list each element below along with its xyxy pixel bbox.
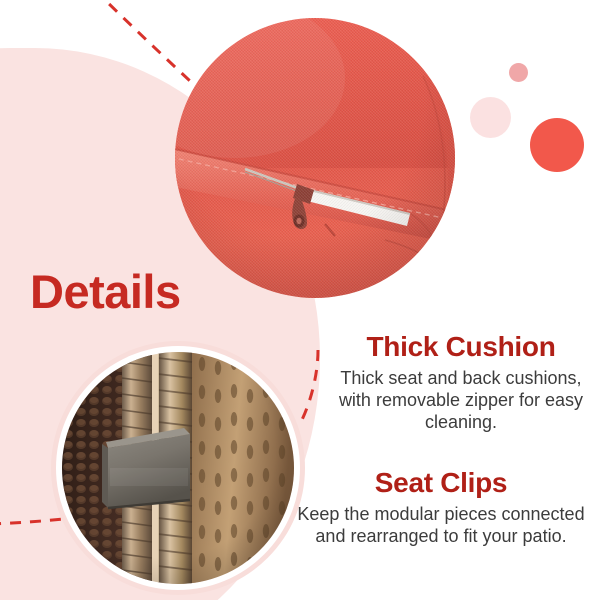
feature-seat-clips-title: Seat Clips — [282, 468, 600, 499]
product-details-poster: Details Thick Cushion Thick seat and bac… — [0, 0, 600, 600]
feature-thick-cushion-body: Thick seat and back cushions, with remov… — [330, 368, 592, 434]
feature-seat-clips-body: Keep the modular pieces connected and re… — [282, 504, 600, 548]
small-pink-dot — [509, 63, 528, 82]
page-title: Details — [30, 268, 181, 315]
cushion-illustration — [175, 18, 455, 298]
seat-clip-photo — [62, 352, 294, 584]
pale-pink-dot — [470, 97, 511, 138]
cushion-zipper-photo — [175, 18, 455, 298]
coral-dot — [530, 118, 584, 172]
seat-clip-illustration — [62, 352, 294, 584]
feature-seat-clips: Seat Clips Keep the modular pieces conne… — [282, 468, 600, 548]
feature-thick-cushion-title: Thick Cushion — [330, 332, 592, 363]
feature-thick-cushion: Thick Cushion Thick seat and back cushio… — [330, 332, 592, 434]
